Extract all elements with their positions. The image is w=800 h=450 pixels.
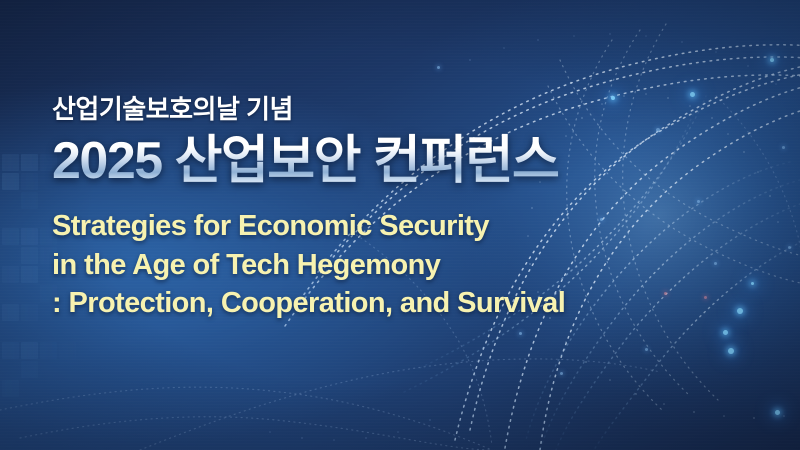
banner-subtitle-line-2: in the Age of Tech Hegemony	[52, 246, 752, 284]
banner-headline: 2025 산업보안 컨퍼런스	[52, 133, 752, 189]
banner-subtitle-line-3: : Protection, Cooperation, and Survival	[52, 284, 752, 322]
banner-subtitle-line-1: Strategies for Economic Security	[52, 207, 752, 245]
banner-text-block: 산업기술보호의날 기념 2025 산업보안 컨퍼런스 Strategies fo…	[52, 96, 752, 322]
banner-subtitle: Strategies for Economic Security in the …	[52, 207, 752, 322]
conference-key-visual-banner: 산업기술보호의날 기념 2025 산업보안 컨퍼런스 Strategies fo…	[0, 0, 800, 450]
banner-eyebrow: 산업기술보호의날 기념	[52, 96, 752, 123]
